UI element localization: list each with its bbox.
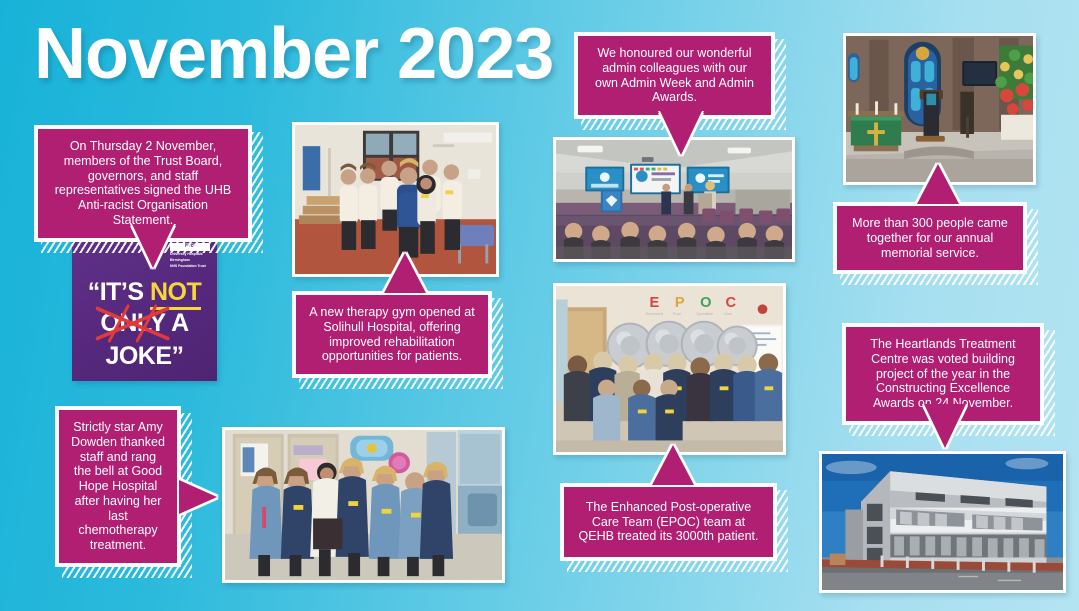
callout-tail-down-icon [660, 111, 702, 155]
callout-text: Strictly star Amy Dowden thanked staff a… [71, 420, 165, 553]
callout-tail-up-icon [917, 164, 959, 204]
heartlands-building-photo-graphic [822, 454, 1063, 590]
svg-text:Post: Post [673, 311, 682, 316]
callout-text: The Enhanced Post-operative Care Team (E… [576, 500, 761, 544]
callout-text: More than 300 people came together for o… [849, 216, 1011, 260]
svg-text:Care: Care [724, 311, 732, 316]
callout-tail-up-icon [384, 253, 426, 293]
page-title: November 2023 [34, 18, 553, 90]
callout-tail-up-icon [652, 445, 694, 485]
callout-tail-down-icon [924, 404, 966, 448]
poster-word-a: A [171, 309, 189, 337]
svg-text:Operative: Operative [696, 311, 713, 316]
callout-anti-racist-statement: On Thursday 2 November, members of the T… [34, 125, 252, 242]
nhs-logo-line1: University Hospitals [170, 252, 210, 256]
poster-word-only-struck: ONLY [100, 309, 165, 338]
heartlands-building-photo [819, 451, 1066, 593]
epoc-team-photo: E P O C EnhancedPost OperativeCare [553, 283, 786, 455]
callout-tail-right-icon [179, 480, 217, 514]
callout-bubble: A new therapy gym opened at Solihull Hos… [292, 291, 492, 378]
callout-tail-down-icon [132, 224, 174, 268]
memorial-service-photo-graphic [846, 36, 1033, 182]
callout-memorial-service: More than 300 people came together for o… [833, 202, 1027, 274]
callout-admin-week: We honoured our wonderful admin colleagu… [574, 32, 775, 119]
callout-bubble: The Enhanced Post-operative Care Team (E… [560, 483, 777, 561]
epoc-team-photo-graphic: E P O C EnhancedPost OperativeCare [556, 286, 783, 452]
svg-text:E: E [650, 295, 660, 311]
monthly-highlights-poster: November 2023 [0, 0, 1079, 611]
amy-dowden-photo-graphic [225, 430, 502, 580]
admin-awards-photo-graphic [556, 140, 792, 259]
callout-bubble: More than 300 people came together for o… [833, 202, 1027, 274]
amy-dowden-photo [222, 427, 505, 583]
svg-text:P: P [675, 295, 685, 311]
svg-text:Enhanced: Enhanced [646, 311, 663, 316]
callout-text: On Thursday 2 November, members of the T… [50, 139, 236, 228]
callout-therapy-gym: A new therapy gym opened at Solihull Hos… [292, 291, 492, 378]
callout-bubble: Strictly star Amy Dowden thanked staff a… [55, 406, 181, 567]
callout-bubble: We honoured our wonderful admin colleagu… [574, 32, 775, 119]
poster-line-2: ONLY A [72, 309, 217, 338]
callout-text: A new therapy gym opened at Solihull Hos… [308, 305, 476, 364]
nhs-logo-line3: NHS Foundation Trust [170, 264, 210, 268]
admin-awards-photo [553, 137, 795, 262]
strikethrough-icon [94, 302, 171, 345]
nhs-logo-line2: Birmingham [170, 258, 210, 262]
callout-text: We honoured our wonderful admin colleagu… [590, 46, 759, 105]
poster-line-3: JOKE” [72, 342, 217, 371]
therapy-gym-photo-graphic [295, 125, 496, 274]
svg-text:O: O [700, 295, 711, 311]
callout-amy-dowden: Strictly star Amy Dowden thanked staff a… [55, 406, 181, 567]
callout-epoc-team: The Enhanced Post-operative Care Team (E… [560, 483, 777, 561]
callout-heartlands-treatment-centre: The Heartlands Treatment Centre was vote… [842, 323, 1044, 425]
svg-text:C: C [726, 295, 737, 311]
callout-text: The Heartlands Treatment Centre was vote… [858, 337, 1028, 411]
memorial-service-photo [843, 33, 1036, 185]
